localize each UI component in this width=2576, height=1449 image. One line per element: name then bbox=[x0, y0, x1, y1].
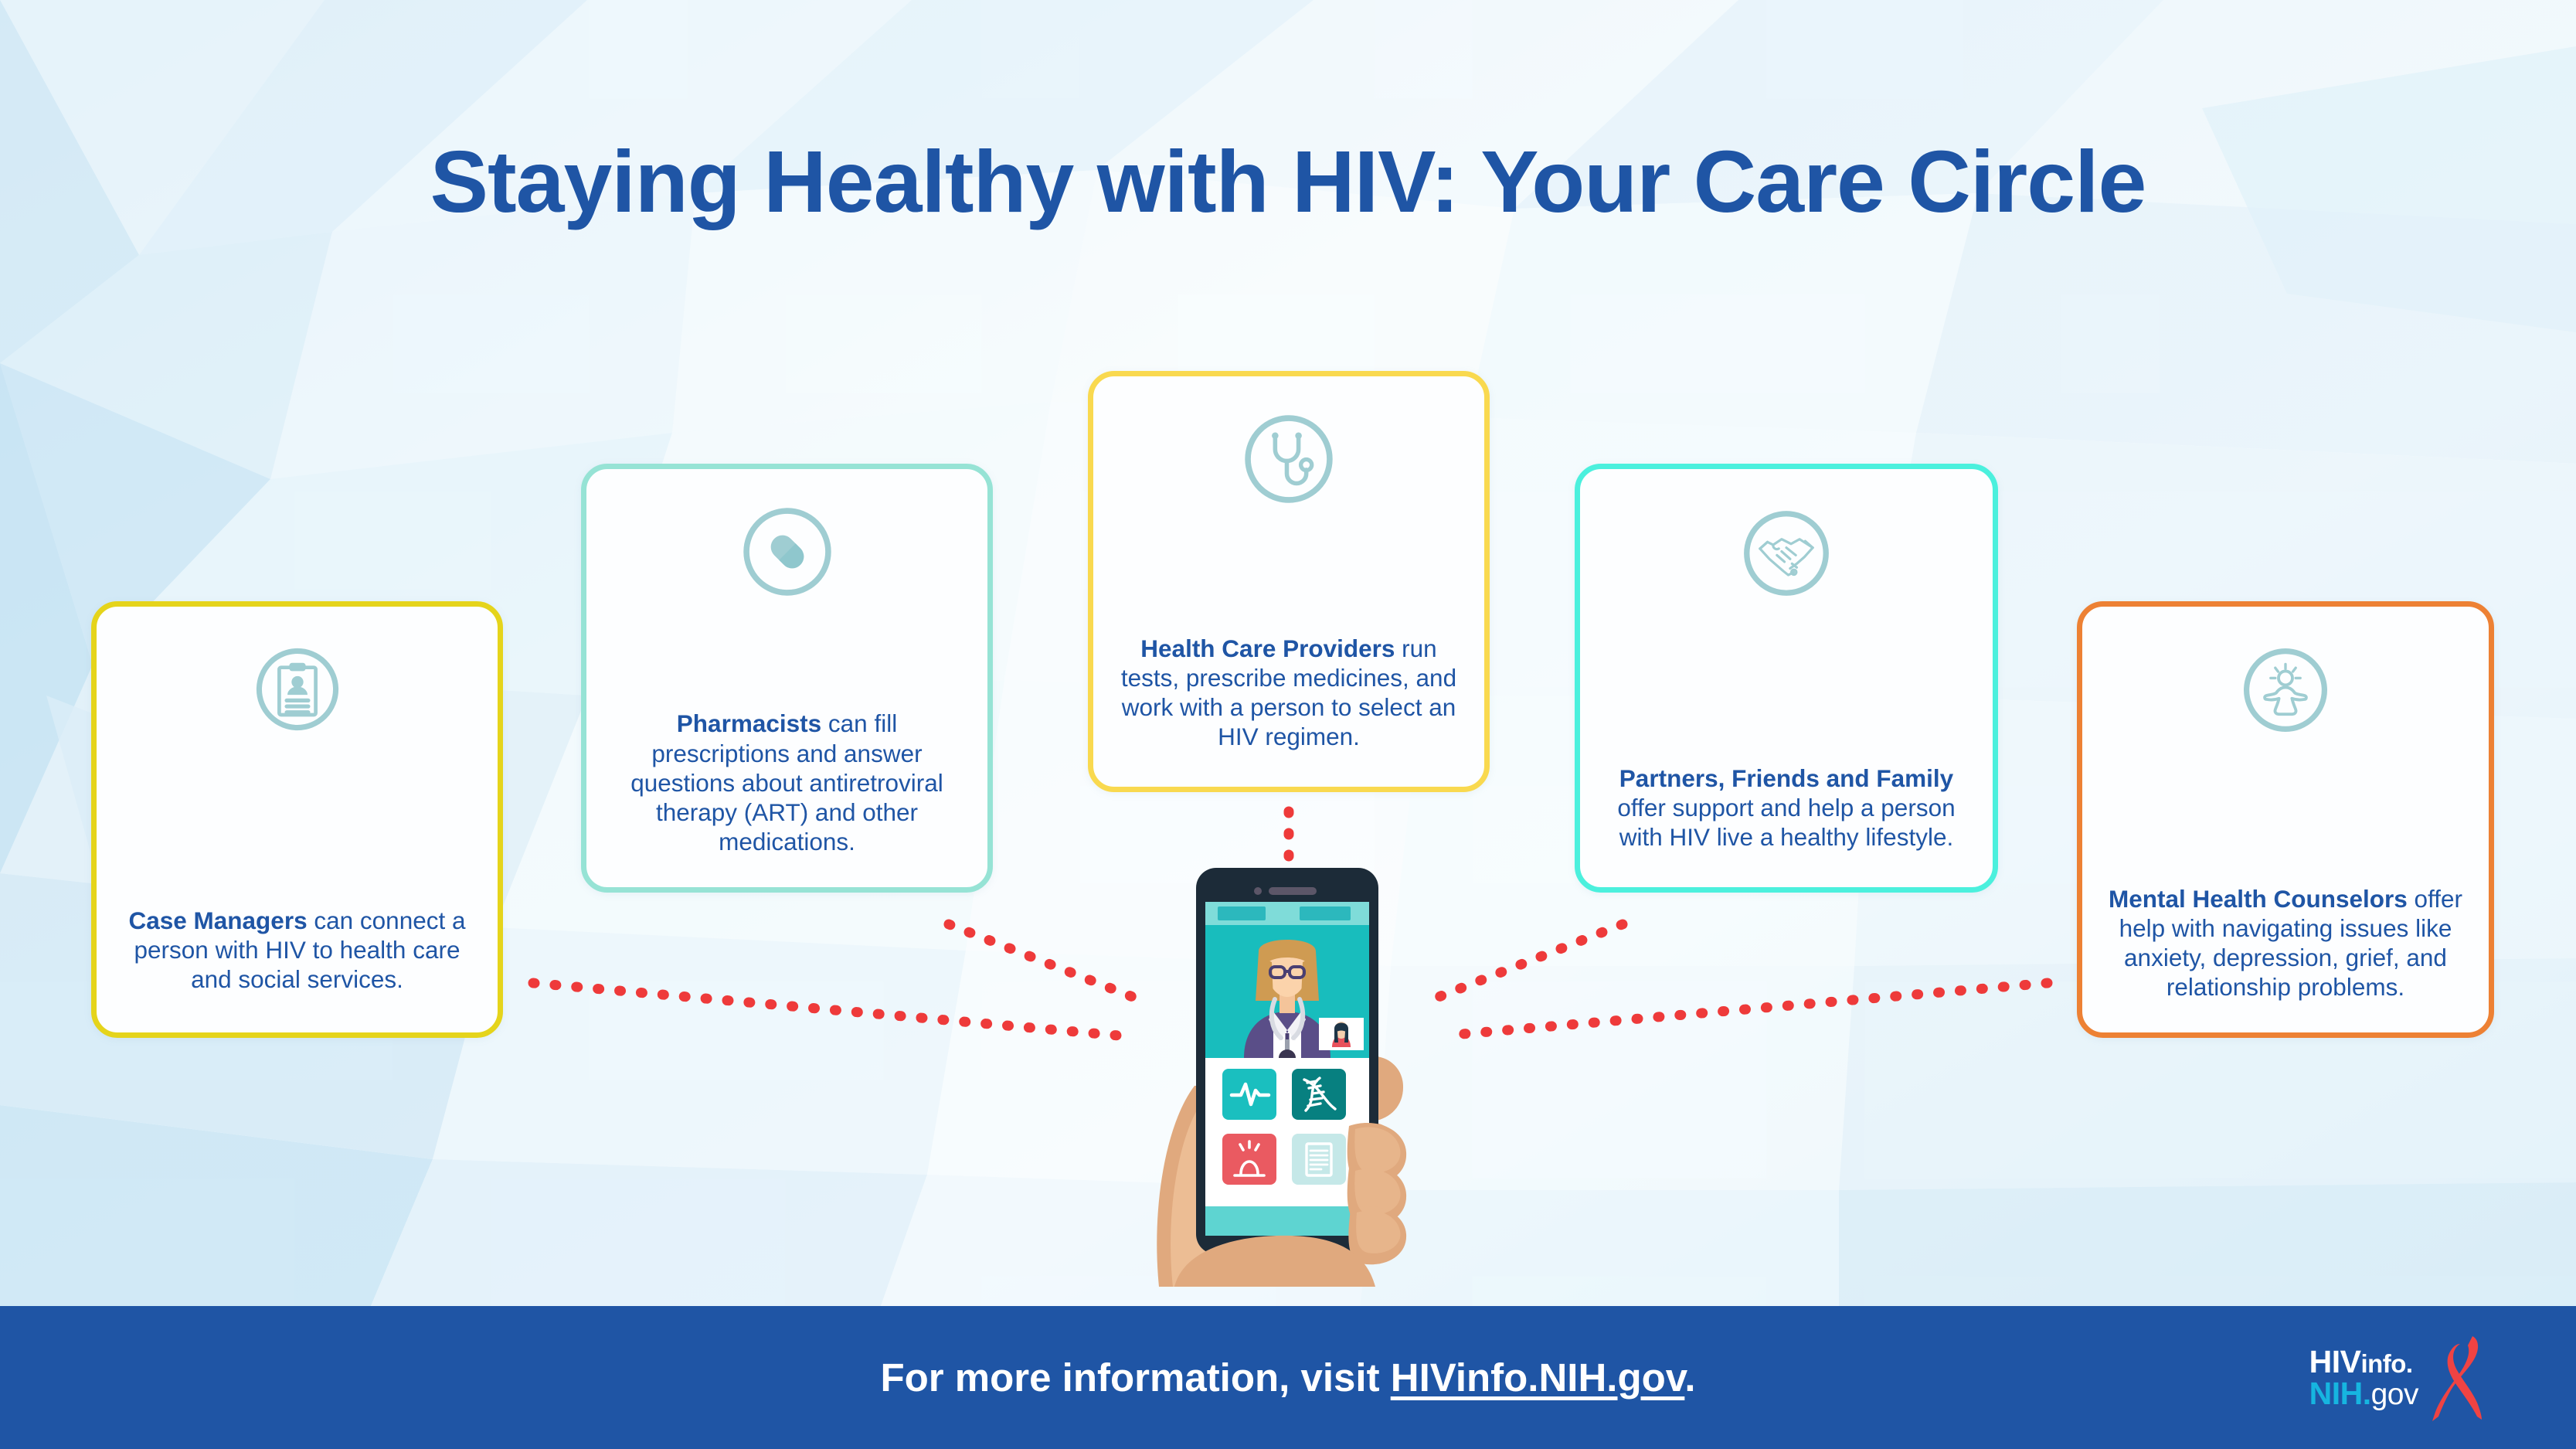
document-tile[interactable] bbox=[1292, 1134, 1346, 1185]
card-mental-health-counselors[interactable]: Mental Health Counselors offer help with… bbox=[2077, 601, 2494, 1038]
logo-nih-text: NIH bbox=[2309, 1376, 2363, 1411]
infographic-canvas: Staying Healthy with HIV: Your Care Circ… bbox=[0, 0, 2576, 1449]
card-text-body: Case Managers can connect a person with … bbox=[117, 735, 477, 1015]
footer-period: . bbox=[1684, 1355, 1695, 1400]
card-bold-label: Health Care Providers bbox=[1140, 634, 1395, 662]
self-view-thumbnail bbox=[1319, 1018, 1364, 1050]
card-health-care-providers[interactable]: Health Care Providers run tests, prescri… bbox=[1088, 371, 1490, 792]
footer-bar: For more information, visit HIVinfo.NIH.… bbox=[0, 1306, 2576, 1449]
card-rest-text: offer support and help a person with HIV… bbox=[1617, 794, 1955, 851]
stethoscope-icon bbox=[1240, 410, 1337, 508]
phone-screen bbox=[1205, 902, 1369, 1236]
logo-dot: . bbox=[2363, 1376, 2371, 1411]
page-title: Staying Healthy with HIV: Your Care Circ… bbox=[0, 131, 2576, 232]
logo-wordmark: HIVinfo. NIH.gov bbox=[2309, 1346, 2418, 1410]
hivinfo-nih-logo[interactable]: HIVinfo. NIH.gov bbox=[2309, 1332, 2489, 1424]
footer-text: For more information, visit HIVinfo.NIH.… bbox=[880, 1355, 1695, 1400]
dna-tile[interactable] bbox=[1292, 1069, 1346, 1120]
aids-red-ribbon-icon bbox=[2429, 1332, 2489, 1424]
logo-info-text: info. bbox=[2360, 1349, 2412, 1378]
card-text-body: Health Care Providers run tests, prescri… bbox=[1113, 508, 1464, 770]
logo-hiv-text: HIV bbox=[2309, 1344, 2361, 1379]
meditating-person-icon bbox=[2239, 644, 2332, 736]
card-bold-label: Partners, Friends and Family bbox=[1619, 764, 1953, 792]
clipboard-id-card-icon bbox=[252, 644, 343, 735]
card-case-managers[interactable]: Case Managers can connect a person with … bbox=[91, 601, 503, 1038]
card-bold-label: Mental Health Counselors bbox=[2109, 885, 2408, 913]
front-finger-highlights bbox=[1354, 1128, 1400, 1253]
card-text-body: Mental Health Counselors offer help with… bbox=[2102, 736, 2469, 1015]
alert-siren-tile[interactable] bbox=[1222, 1134, 1276, 1185]
phone-in-hand-illustration bbox=[1128, 854, 1453, 1287]
card-bold-label: Case Managers bbox=[128, 906, 307, 934]
heartbeat-tile[interactable] bbox=[1222, 1069, 1276, 1120]
handshake-icon bbox=[1739, 506, 1833, 600]
card-partners-friends-family[interactable]: Partners, Friends and Family offer suppo… bbox=[1575, 464, 1998, 893]
footer-lead: For more information, visit bbox=[880, 1355, 1390, 1400]
card-text-body: Partners, Friends and Family offer suppo… bbox=[1600, 600, 1973, 870]
card-bold-label: Pharmacists bbox=[677, 709, 821, 737]
logo-gov-text: gov bbox=[2371, 1378, 2418, 1411]
card-text-body: Pharmacists can fill prescriptions and a… bbox=[607, 600, 967, 870]
card-pharmacists[interactable]: Pharmacists can fill prescriptions and a… bbox=[581, 464, 993, 893]
footer-url-link[interactable]: HIVinfo.NIH.gov bbox=[1391, 1355, 1685, 1400]
pill-capsule-icon bbox=[739, 503, 836, 600]
